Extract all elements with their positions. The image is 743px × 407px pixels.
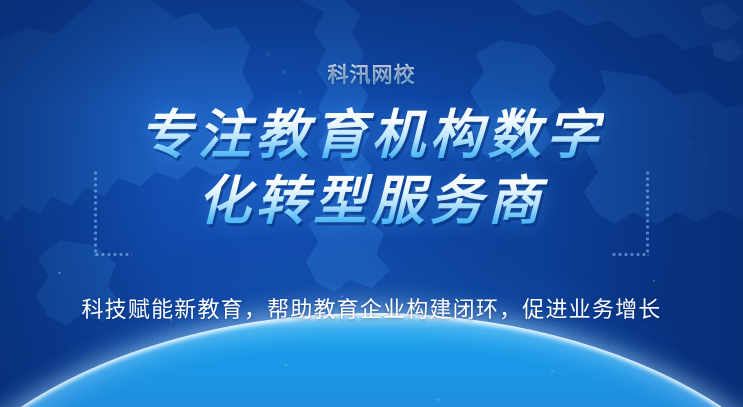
promo-banner: 科汛网校 专注教育机构数字 化转型服务商 科技赋能新教育，帮助教育企业构建闭环，… [0,0,743,407]
banner-content: 科汛网校 专注教育机构数字 化转型服务商 [0,0,743,407]
headline-line-2: 化转型服务商 [140,171,604,234]
headline-line-1: 专注教育机构数字 [140,105,604,168]
brand-name: 科汛网校 [328,59,416,89]
headline: 专注教育机构数字 化转型服务商 [140,105,604,233]
